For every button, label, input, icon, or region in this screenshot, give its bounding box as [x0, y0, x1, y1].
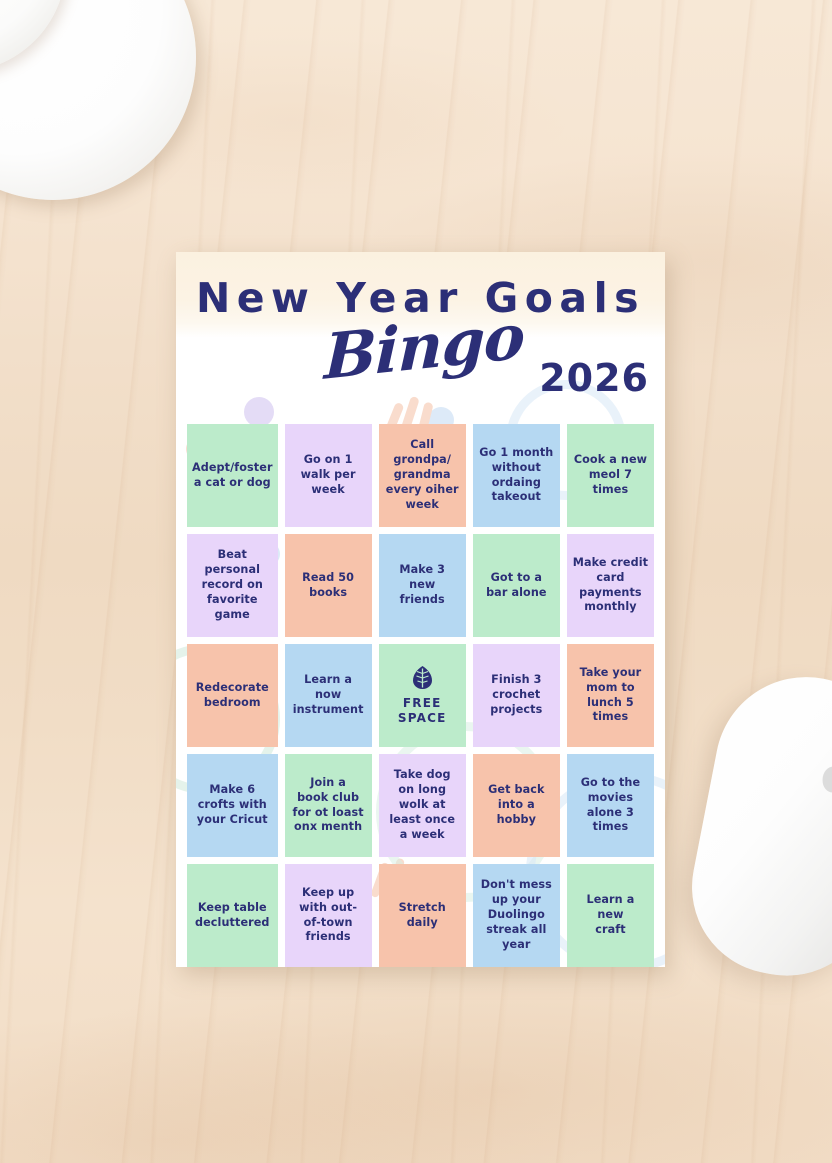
leaf-icon	[412, 665, 433, 690]
bingo-cell-text: Finish 3 crochet projects	[490, 673, 542, 718]
bingo-cell[interactable]: Finish 3 crochet projects	[473, 644, 560, 747]
bingo-cell[interactable]: Go 1 month without ordaing takeout	[473, 424, 560, 527]
bingo-cell[interactable]: Make credit card payments monthly	[567, 534, 654, 637]
bingo-card: New Year Goals Bingo 2026 Adept/foster a…	[176, 252, 665, 967]
mouse-logo-icon	[823, 766, 832, 792]
bingo-cell-text: Get back into a hobby	[488, 783, 544, 828]
bingo-cell-text: Go 1 month without ordaing takeout	[479, 446, 553, 506]
bingo-cell[interactable]: Cook a new meol 7 times	[567, 424, 654, 527]
bingo-cell[interactable]: Make 3 new friends	[379, 534, 466, 637]
bingo-cell[interactable]: Take your mom to lunch 5 times	[567, 644, 654, 747]
bingo-cell-text: Learn a now instrument	[293, 673, 364, 718]
bingo-cell-text: Don't mess up your Duolingo streak all y…	[481, 878, 552, 952]
bingo-cell-text: Go on 1 walk per week	[301, 453, 356, 498]
bingo-cell[interactable]: Call grondpa/ grandma every oiher week	[379, 424, 466, 527]
bingo-cell-text: Call grondpa/ grandma every oiher week	[386, 438, 459, 512]
bingo-cell-text: Take dog on long wolk at least once a we…	[389, 768, 455, 842]
bingo-cell-text: Read 50 books	[302, 571, 354, 601]
bingo-cell[interactable]: Go to the movies alone 3 times	[567, 754, 654, 857]
bingo-grid: Adept/foster a cat or dogGo on 1 walk pe…	[187, 424, 654, 967]
bingo-cell-text: Adept/foster a cat or dog	[192, 461, 273, 491]
bingo-cell-text: Learn a new craft	[572, 893, 649, 938]
bingo-cell-text: Go to the movies alone 3 times	[581, 776, 641, 836]
bingo-cell[interactable]: Don't mess up your Duolingo streak all y…	[473, 864, 560, 967]
bingo-cell[interactable]: Read 50 books	[285, 534, 372, 637]
bingo-cell-text: Make 6 crofts with your Cricut	[197, 783, 268, 828]
bingo-cell-text: Take your mom to lunch 5 times	[580, 666, 642, 726]
bingo-cell[interactable]: Get back into a hobby	[473, 754, 560, 857]
bingo-cell[interactable]: Adept/foster a cat or dog	[187, 424, 278, 527]
bingo-cell[interactable]: Go on 1 walk per week	[285, 424, 372, 527]
bingo-cell-text: Make 3 new friends	[399, 563, 445, 608]
bingo-cell-text: Keep table decluttered	[195, 901, 270, 931]
bingo-cell-text: Got to a bar alone	[486, 571, 547, 601]
bingo-cell-text: Beat personal record on favorite game	[202, 548, 263, 622]
bingo-cell[interactable]: Got to a bar alone	[473, 534, 560, 637]
bingo-cell-text: Make credit card payments monthly	[573, 556, 648, 616]
bingo-cell-text: Join a book club for ot loast onx menth	[293, 776, 364, 836]
bingo-cell[interactable]: Keep up with out- of-town friends	[285, 864, 372, 967]
bingo-cell[interactable]: Make 6 crofts with your Cricut	[187, 754, 278, 857]
bingo-cell[interactable]: Redecorate bedroom	[187, 644, 278, 747]
bingo-cell-text: Keep up with out- of-town friends	[299, 886, 357, 946]
bingo-cell[interactable]: Learn a now instrument	[285, 644, 372, 747]
free-space-label: FREE SPACE	[384, 696, 461, 726]
bingo-cell-text: Stretch daily	[399, 901, 446, 931]
year-label: 2026	[539, 356, 649, 400]
bingo-cell[interactable]: Join a book club for ot loast onx menth	[285, 754, 372, 857]
bingo-cell-text: Redecorate bedroom	[196, 681, 269, 711]
bingo-cell-free-space[interactable]: FREE SPACE	[379, 644, 466, 747]
bingo-cell[interactable]: Beat personal record on favorite game	[187, 534, 278, 637]
card-header: New Year Goals Bingo 2026	[176, 252, 665, 412]
coffee-cup	[0, 0, 210, 214]
bingo-cell[interactable]: Keep table decluttered	[187, 864, 278, 967]
bingo-cell[interactable]: Learn a new craft	[567, 864, 654, 967]
bingo-cell[interactable]: Take dog on long wolk at least once a we…	[379, 754, 466, 857]
bingo-cell[interactable]: Stretch daily	[379, 864, 466, 967]
bingo-cell-text: Cook a new meol 7 times	[574, 453, 647, 498]
